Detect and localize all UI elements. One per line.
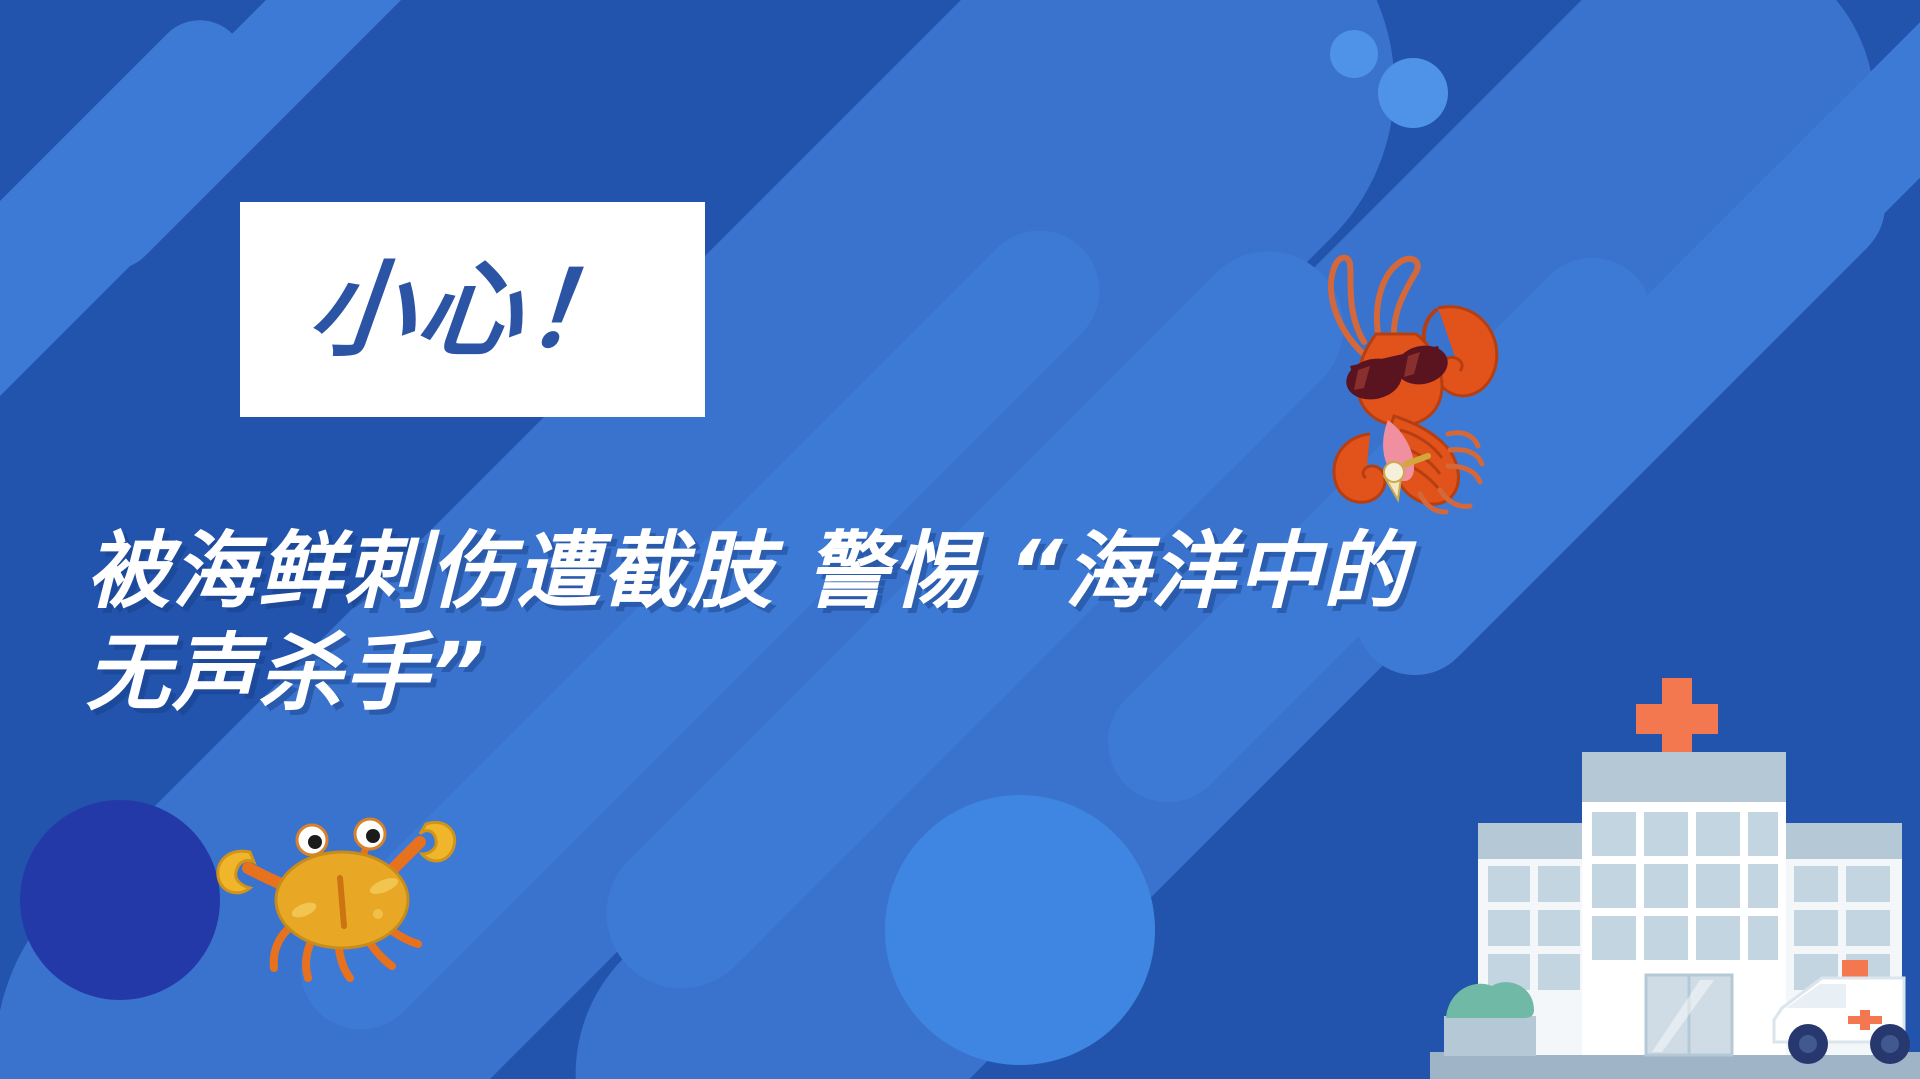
crab-illustration: [188, 782, 458, 982]
poster-canvas: 小心！ 被海鲜刺伤遭截肢 警惕 “海洋中的 无声杀手”: [0, 0, 1920, 1079]
bubble-large: [1378, 58, 1448, 128]
badge-label: 小心！: [305, 258, 640, 362]
hospital-illustration: [1430, 660, 1920, 1079]
headline-line-1: 被海鲜刺伤遭截肢 警惕 “海洋中的: [86, 520, 1686, 622]
bush-planter: [1444, 982, 1536, 1056]
background-circle-large: [885, 795, 1155, 1065]
lobster-claw-left: [1334, 434, 1385, 502]
crab-mouth: [340, 878, 344, 926]
lobster-illustration: [1288, 238, 1508, 518]
hospital-entrance-door: [1646, 975, 1732, 1055]
bubble-small: [1330, 30, 1378, 78]
badge-card: 小心！: [240, 202, 705, 417]
hospital-center-windows: [1592, 812, 1778, 960]
hospital-penthouse: [1582, 752, 1786, 802]
